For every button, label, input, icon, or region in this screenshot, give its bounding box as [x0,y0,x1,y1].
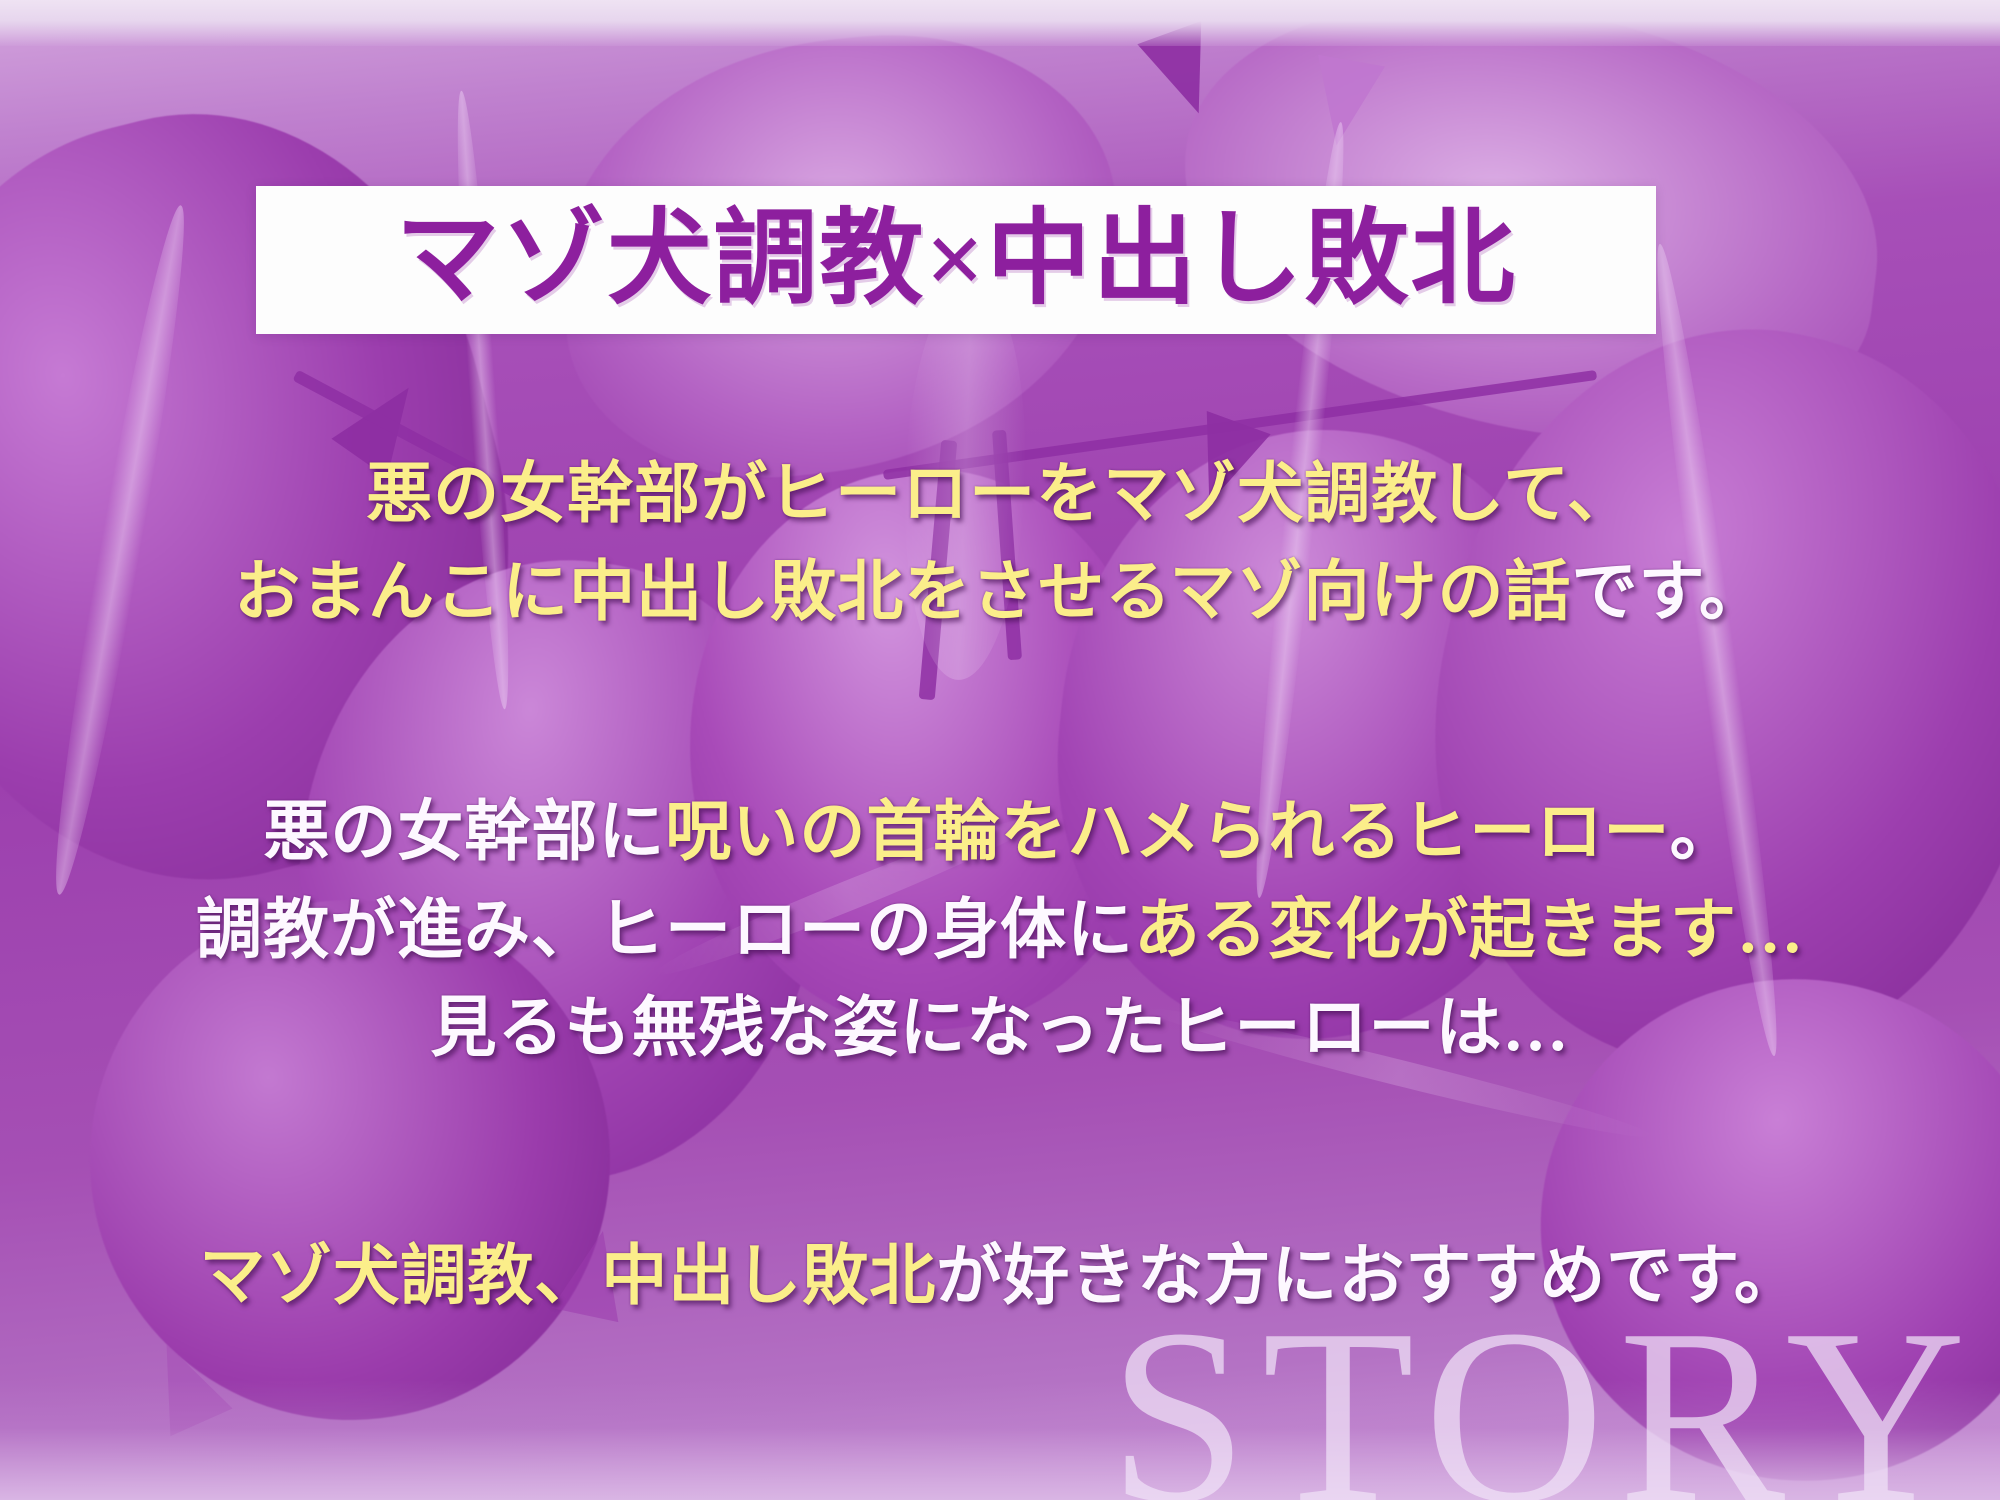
text-run: が好きな方におすすめです。 [936,1240,1800,1313]
text-run: です。 [1571,556,1765,629]
paragraph-synopsis: 悪の女幹部に呪いの首輪をハメられるヒーロー。 調教が進み、ヒーローの身体にある変… [0,784,2000,1078]
text-run: 。 [1670,796,1737,869]
paragraph-recommend: マゾ犬調教、中出し敗北が好きな方におすすめです。 [0,1228,2000,1326]
text-run: おまんこに中出し敗北をさせるマゾ向けの話 [234,556,1571,629]
text-run: 悪の女幹部に [263,796,665,869]
text-run: 見るも無残な姿になったヒーローは… [431,992,1570,1065]
text-run: 調教が進み、ヒーローの身体に [196,894,1134,967]
story-line: 調教が進み、ヒーローの身体にある変化が起きます… [0,882,2000,980]
top-fade-overlay [0,0,2000,46]
story-line: 悪の女幹部がヒーローをマゾ犬調教して、 [0,446,2000,544]
text-run: 呪いの首輪をハメられるヒーロー [665,796,1669,869]
story-line: マゾ犬調教、中出し敗北が好きな方におすすめです。 [0,1228,2000,1326]
story-slide: STORY マゾ犬調教×中出し敗北 悪の女幹部がヒーローをマゾ犬調教して、 おま… [0,0,2000,1500]
story-line: 悪の女幹部に呪いの首輪をハメられるヒーロー。 [0,784,2000,882]
paragraph-intro: 悪の女幹部がヒーローをマゾ犬調教して、 おまんこに中出し敗北をさせるマゾ向けの話… [0,446,2000,642]
text-run: 悪の女幹部がヒーローをマゾ犬調教して、 [366,458,1634,531]
story-line: 見るも無残な姿になったヒーローは… [0,980,2000,1078]
text-run: マゾ犬調教、中出し敗北 [199,1240,936,1313]
story-body: 悪の女幹部がヒーローをマゾ犬調教して、 おまんこに中出し敗北をさせるマゾ向けの話… [0,446,2000,1326]
title-band: マゾ犬調教×中出し敗北 [256,186,1656,334]
story-line: おまんこに中出し敗北をさせるマゾ向けの話です。 [0,544,2000,642]
paragraph-spacer [0,1078,2000,1228]
page-title: マゾ犬調教×中出し敗北 [395,208,1516,312]
paragraph-spacer [0,642,2000,784]
text-run: ある変化が起きます… [1134,894,1804,967]
